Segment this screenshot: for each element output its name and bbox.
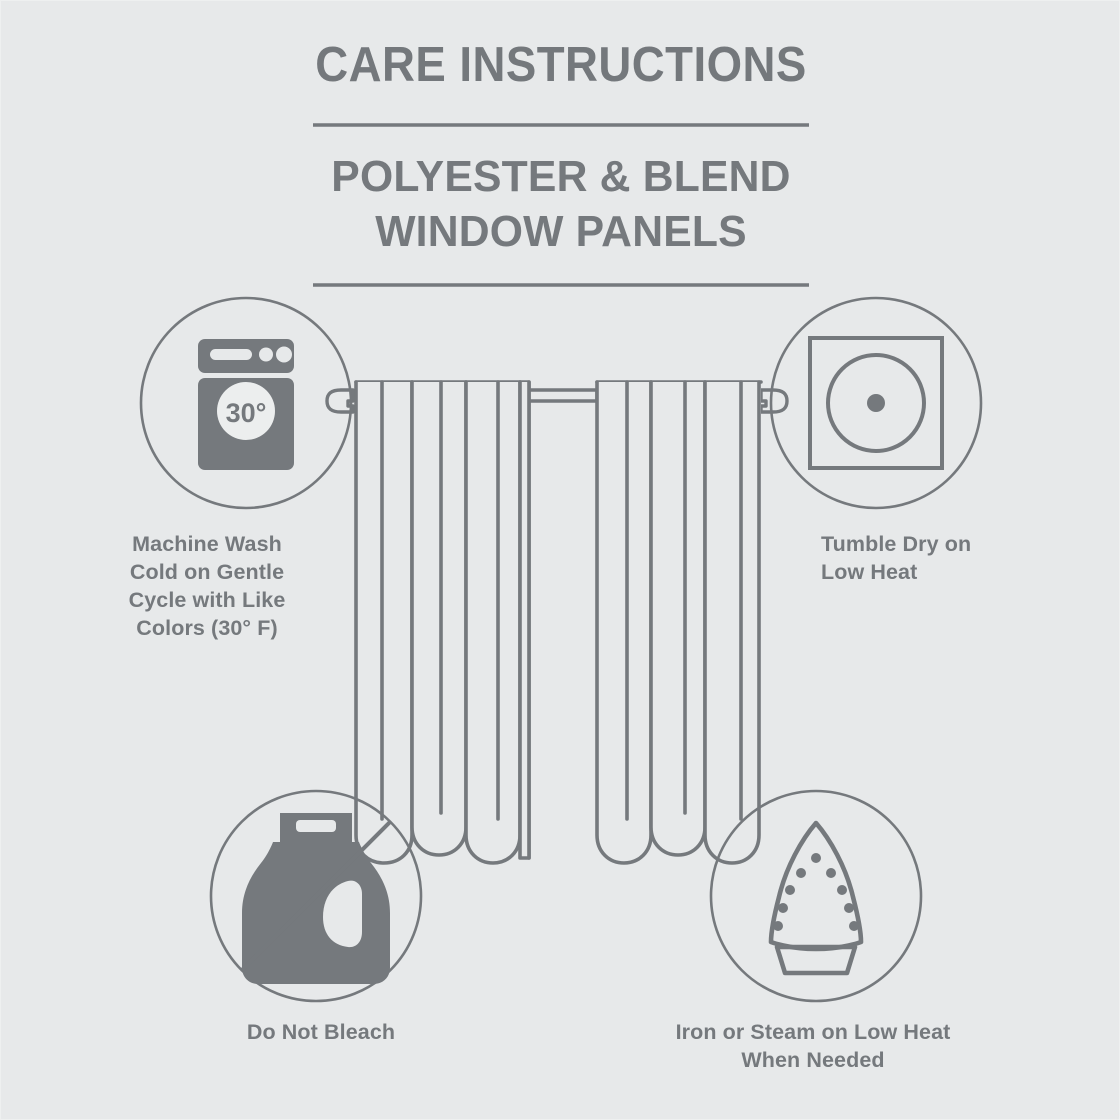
caption-tumble-dry: Tumble Dry on Low Heat [821,530,1071,586]
dryer-heat-dot [867,394,885,412]
caption-do-not-bleach: Do Not Bleach [156,1018,486,1046]
caption-line: Low Heat [821,558,1071,586]
subtitle-line-2: WINDOW PANELS [18,204,1104,259]
curtain-finial-right [761,390,787,412]
tumble-dry-badge [771,298,981,508]
caption-line: Cold on Gentle [73,558,341,586]
iron-low-heat-icon [771,823,861,973]
subtitle-line-1: POLYESTER & BLEND [331,152,790,201]
caption-line: Iron or Steam on Low Heat [601,1018,1025,1046]
curtain-finial-left [327,390,353,412]
wash-temperature-label: 30° [226,398,267,428]
iron-steam-holes [773,853,859,931]
iron-badge [711,791,921,1001]
caption-iron: Iron or Steam on Low Heat When Needed [601,1018,1025,1074]
page-title: CARE INSTRUCTIONS [40,37,1082,93]
curtain-rod [528,390,597,401]
caption-machine-wash: Machine Wash Cold on Gentle Cycle with L… [73,530,341,642]
do-not-bleach-icon [201,781,441,1021]
do-not-bleach-badge [201,781,441,1021]
caption-line: Cycle with Like [73,586,341,614]
caption-line: Colors (30° F) [73,614,341,642]
washing-machine-badge: 30° [141,298,351,508]
care-instructions-infographic: 30° [0,0,1120,1120]
caption-line: When Needed [601,1046,1025,1074]
page-subtitle: POLYESTER & BLEND WINDOW PANELS [18,149,1104,259]
caption-line: Do Not Bleach [156,1018,486,1046]
caption-line: Tumble Dry on [821,530,1071,558]
caption-line: Machine Wash [73,530,341,558]
